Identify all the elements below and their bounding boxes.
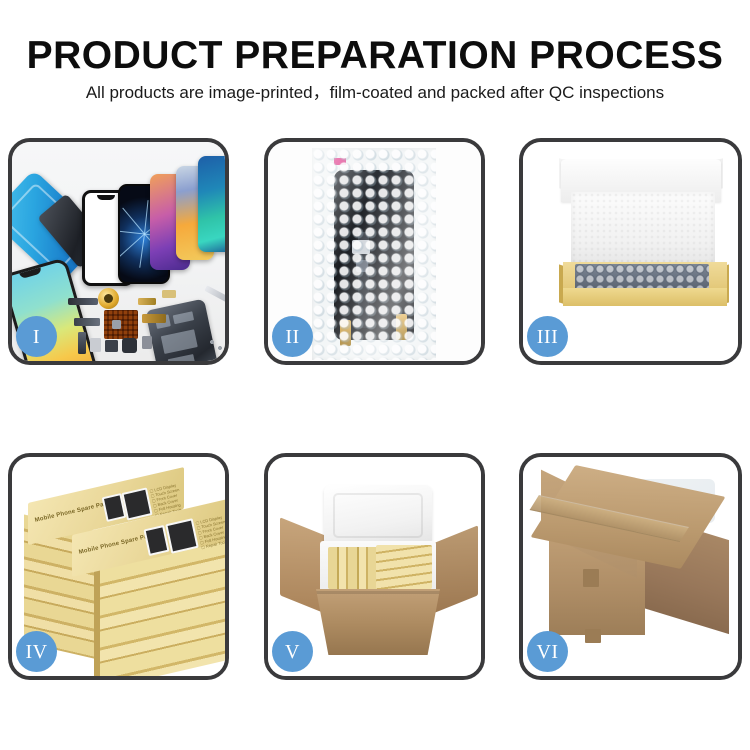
step-badge-4: IV xyxy=(16,631,57,672)
small-part-2 xyxy=(105,340,118,352)
step-badge-5: V xyxy=(272,631,313,672)
small-part-5 xyxy=(112,320,121,329)
flex-cable-part-1 xyxy=(74,318,100,326)
small-part-6 xyxy=(162,290,176,298)
process-step-panel-3[interactable]: III xyxy=(519,138,742,365)
box-tray-front xyxy=(563,288,727,306)
step-badge-3: III xyxy=(527,316,568,357)
foam-cooler-lid xyxy=(324,485,432,547)
process-step-grid: I II xyxy=(0,0,750,750)
white-foam-sheet xyxy=(571,192,715,266)
teal-gradient-phone xyxy=(198,156,225,252)
process-step-panel-5[interactable]: V xyxy=(264,453,485,680)
small-part-4 xyxy=(142,336,152,349)
step-badge-1: I xyxy=(16,316,57,357)
box-art-screen-rear-2 xyxy=(121,487,152,520)
carton-label-upper xyxy=(583,569,599,587)
process-step-panel-4[interactable]: Mobile Phone Spare Parts ▢ LCD Display▢ … xyxy=(8,453,229,680)
small-part-3 xyxy=(122,338,137,353)
box-stack-front-edge xyxy=(94,561,100,676)
box-art-screen-front-2 xyxy=(165,518,199,554)
step-badge-6: VI xyxy=(527,631,568,672)
chip-array-part xyxy=(104,310,138,339)
carton-label-lower xyxy=(585,629,601,643)
bubble-wrap-sleeve xyxy=(312,148,436,360)
gold-flex-part-2 xyxy=(138,298,156,305)
carton-body xyxy=(316,589,440,655)
process-step-panel-2[interactable]: II xyxy=(264,138,485,365)
metal-strip-part xyxy=(68,298,98,305)
small-part-1 xyxy=(90,338,101,352)
gold-camera-module-part xyxy=(98,288,119,309)
process-step-panel-1[interactable]: I xyxy=(8,138,229,365)
process-step-panel-6[interactable]: VI xyxy=(519,453,742,680)
screws-part xyxy=(208,338,224,354)
plastic-sheen xyxy=(312,148,436,360)
flex-cable-part-2 xyxy=(78,332,86,354)
gold-flex-part-1 xyxy=(142,314,166,323)
step-badge-2: II xyxy=(272,316,313,357)
gold-packs-row-right xyxy=(376,545,432,589)
